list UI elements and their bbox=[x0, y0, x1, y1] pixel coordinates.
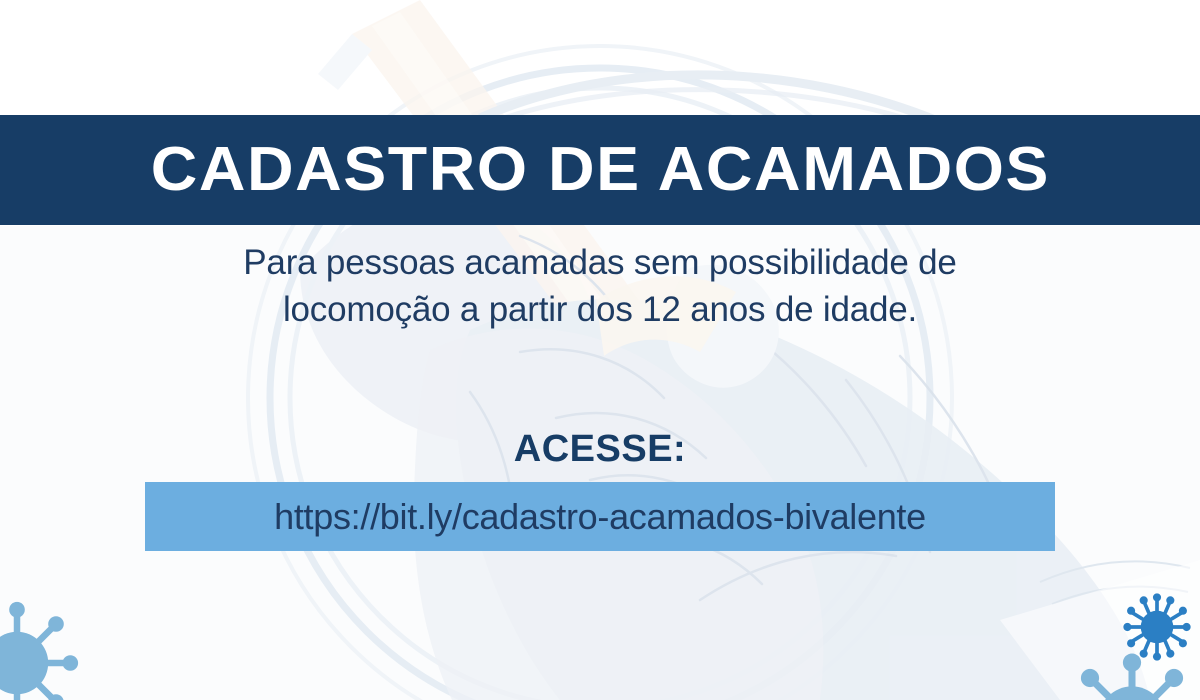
bottom-right-arc-watermark bbox=[1040, 561, 1190, 604]
subtitle-line-2: locomoção a partir dos 12 anos de idade. bbox=[0, 287, 1200, 334]
url-banner[interactable]: https://bit.ly/cadastro-acamados-bivalen… bbox=[145, 482, 1055, 551]
background-watermark bbox=[0, 0, 1200, 700]
coronavirus-icon bbox=[0, 598, 82, 700]
vaccination-registration-poster: CADASTRO DE ACAMADOS Para pessoas acamad… bbox=[0, 0, 1200, 700]
subtitle: Para pessoas acamadas sem possibilidade … bbox=[0, 240, 1200, 333]
access-label: ACESSE: bbox=[0, 428, 1200, 471]
subtitle-line-1: Para pessoas acamadas sem possibilidade … bbox=[0, 240, 1200, 287]
page-title: CADASTRO DE ACAMADOS bbox=[150, 139, 1049, 201]
coronavirus-icon bbox=[1062, 650, 1200, 700]
coronavirus-icon bbox=[1120, 590, 1194, 664]
registration-url[interactable]: https://bit.ly/cadastro-acamados-bivalen… bbox=[274, 496, 926, 538]
title-band: CADASTRO DE ACAMADOS bbox=[0, 115, 1200, 225]
gloved-hands-syringe-watermark bbox=[300, 0, 1150, 700]
